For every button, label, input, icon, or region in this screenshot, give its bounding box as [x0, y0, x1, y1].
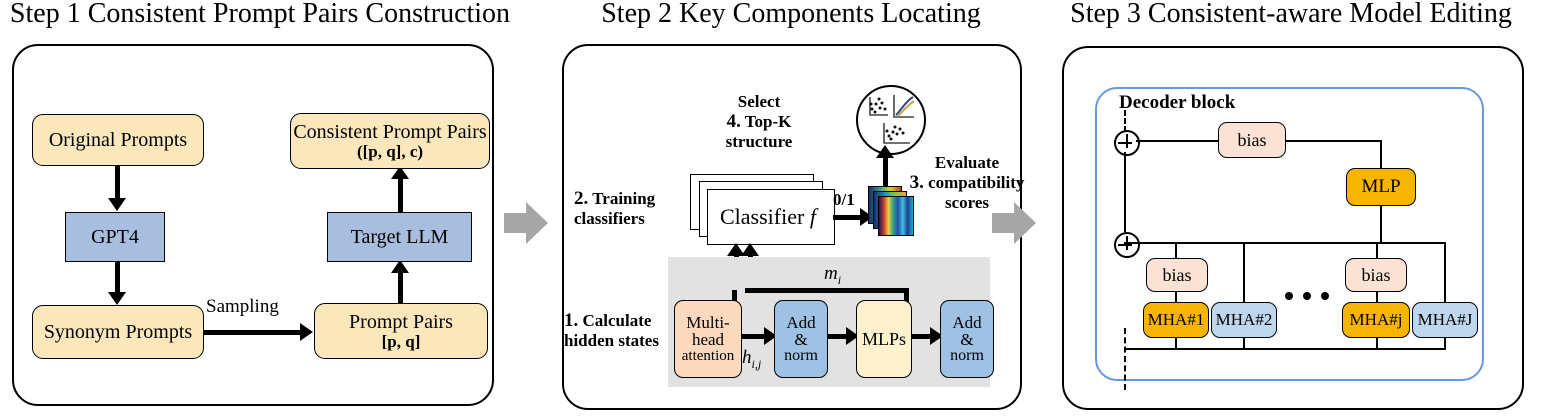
annotation-line: scores	[945, 193, 989, 212]
edge-gpt4-to-synonym	[115, 262, 120, 296]
node-mha-2[interactable]: MHA#2	[1211, 302, 1277, 338]
classifier-symbol: f	[810, 204, 816, 229]
node-label: MLP	[1361, 177, 1400, 196]
heatmap-stack-icon	[878, 196, 914, 236]
node-sublabel: ([p, q], c)	[357, 143, 423, 160]
math-subscript: i	[838, 273, 841, 287]
node-label: Multi-	[686, 314, 729, 331]
arrow-head-up	[876, 145, 894, 158]
edge-classifier-to-heatmaps	[833, 215, 863, 220]
edge-label-binary: 0/1	[833, 190, 855, 209]
node-mha-j[interactable]: MHA#j	[1342, 302, 1410, 338]
node-label: Synonym Prompts	[44, 322, 192, 342]
arrow-head-down	[108, 198, 126, 211]
node-synonym-prompts[interactable]: Synonym Prompts	[32, 305, 204, 359]
annotation-line: Top-K	[745, 112, 792, 131]
step-transition-arrow-1	[504, 202, 548, 244]
node-label: &	[960, 331, 973, 348]
annotation-line: hidden states	[564, 331, 659, 350]
annotation-number: 3.	[910, 172, 924, 193]
edge-synonym-to-prompt-pairs	[204, 330, 302, 335]
arrow-head-up	[741, 243, 759, 256]
node-label: Original Prompts	[49, 130, 187, 150]
node-label: norm	[950, 348, 984, 364]
edge-target-llm-to-consistent	[398, 178, 403, 212]
node-label: MHA#J	[1418, 311, 1473, 328]
annotation-line: Training	[592, 189, 655, 208]
node-target-llm[interactable]: Target LLM	[327, 212, 472, 262]
math-symbol: m	[824, 263, 838, 284]
node-consistent-prompt-pairs[interactable]: Consistent Prompt Pairs ([p, q], c)	[290, 113, 490, 169]
ellipsis-dot	[1285, 292, 1293, 300]
node-mha-J[interactable]: MHA#J	[1412, 302, 1478, 338]
step3-title: Step 3 Consistent-aware Model Editing	[1040, 0, 1542, 30]
node-add-norm-2[interactable]: Add & norm	[940, 300, 994, 378]
edge-heads-top-bus	[1136, 242, 1446, 244]
node-label: MHA#1	[1148, 311, 1205, 328]
classifier-text: Classifier	[720, 204, 804, 229]
annotation-line: Select	[738, 92, 780, 111]
add-node-top	[1114, 130, 1140, 156]
math-subscript: i,j	[752, 357, 762, 371]
annotation-line: compatibility	[928, 173, 1024, 192]
edge-label-hidden-state: hi,j	[742, 347, 761, 372]
step1-title: Step 1 Consistent Prompt Pairs Construct…	[0, 0, 520, 30]
node-multi-head-attention[interactable]: Multi- head attention	[674, 300, 742, 378]
node-label: Target LLM	[351, 227, 449, 247]
edge-heads-bottom-bus	[1124, 348, 1446, 350]
edge-top-to-bias	[1136, 140, 1220, 142]
decoder-block-title: Decoder block	[1119, 92, 1235, 114]
arrow-head-right	[300, 323, 313, 341]
node-label: &	[794, 331, 807, 348]
annotation-number: 1.	[564, 310, 578, 331]
annotation-line: classifiers	[574, 209, 645, 228]
node-label: attention	[682, 349, 735, 364]
annotation-line: Calculate	[583, 311, 652, 330]
step2-title: Step 2 Key Components Locating	[552, 0, 1030, 30]
node-label: Consistent Prompt Pairs	[293, 122, 486, 142]
step1-panel: Step 1 Consistent Prompt Pairs Construct…	[0, 0, 520, 418]
edge-bias-to-mlp	[1286, 140, 1382, 142]
step-transition-arrow-2	[992, 202, 1036, 244]
annotation-line: Evaluate	[935, 153, 999, 172]
annotation-select-topk: Select 4. Top-K structure	[704, 92, 814, 151]
residual-segment	[1124, 152, 1126, 232]
edge-label-mlp-out: mi	[824, 263, 841, 288]
node-mha-1[interactable]: MHA#1	[1143, 302, 1209, 338]
node-label: norm	[784, 348, 818, 364]
node-label: bias	[1163, 266, 1192, 284]
node-bias-head-j[interactable]: bias	[1345, 258, 1407, 292]
edge-prompt-pairs-to-target-llm	[398, 272, 403, 304]
node-gpt4[interactable]: GPT4	[65, 212, 165, 262]
ellipsis-dot	[1321, 292, 1329, 300]
arrow-shaft	[504, 213, 528, 233]
annotation-line: structure	[726, 132, 793, 151]
node-add-norm-1[interactable]: Add & norm	[774, 300, 828, 378]
edge-mlp-feedback	[745, 288, 908, 293]
annotation-training-classifiers: 2. Training classifiers	[574, 188, 694, 228]
ellipsis-dot	[1303, 292, 1311, 300]
step3-panel: Step 3 Consistent-aware Model Editing De…	[1040, 0, 1542, 418]
math-symbol: h	[742, 347, 752, 368]
residual-stream-dashed	[1124, 110, 1126, 132]
arrow-head	[1014, 202, 1036, 244]
edge-original-to-gpt4	[115, 166, 120, 202]
node-label: bias	[1362, 266, 1391, 284]
node-label: MHA#2	[1216, 311, 1273, 328]
node-bias-top[interactable]: bias	[1218, 122, 1286, 158]
edge-label-sampling: Sampling	[206, 296, 279, 318]
node-label: Add	[952, 314, 981, 331]
node-label: MLPs	[862, 330, 906, 348]
node-label: head	[692, 331, 724, 348]
edge-mlp-out-drop	[1380, 206, 1382, 244]
annotation-number: 4.	[727, 111, 741, 132]
add-node-bottom	[1114, 232, 1140, 258]
annotation-calculate-hidden-states: 1. Calculate hidden states	[564, 310, 674, 350]
node-label: Prompt Pairs	[349, 312, 453, 332]
classifier-label: Classifier f	[720, 204, 816, 230]
node-sublabel: [p, q]	[382, 333, 421, 350]
node-label: bias	[1238, 131, 1267, 149]
node-mlp[interactable]: MLP	[1346, 168, 1416, 206]
node-bias-head-1[interactable]: bias	[1146, 258, 1208, 292]
annotation-number: 2.	[574, 188, 588, 209]
residual-stream-dashed	[1124, 328, 1126, 390]
node-label: MHA#j	[1350, 311, 1403, 328]
node-mlps[interactable]: MLPs	[856, 300, 912, 378]
node-label: GPT4	[91, 227, 139, 247]
node-original-prompts[interactable]: Original Prompts	[32, 114, 204, 166]
node-label: Add	[786, 314, 815, 331]
step2-panel: Step 2 Key Components Locating Select 4.…	[552, 0, 1030, 418]
analytics-chart-svg	[858, 87, 924, 153]
node-prompt-pairs[interactable]: Prompt Pairs [p, q]	[314, 303, 488, 359]
arrow-shaft	[992, 213, 1016, 233]
arrow-head	[526, 202, 548, 244]
arrow-head-down	[108, 292, 126, 305]
